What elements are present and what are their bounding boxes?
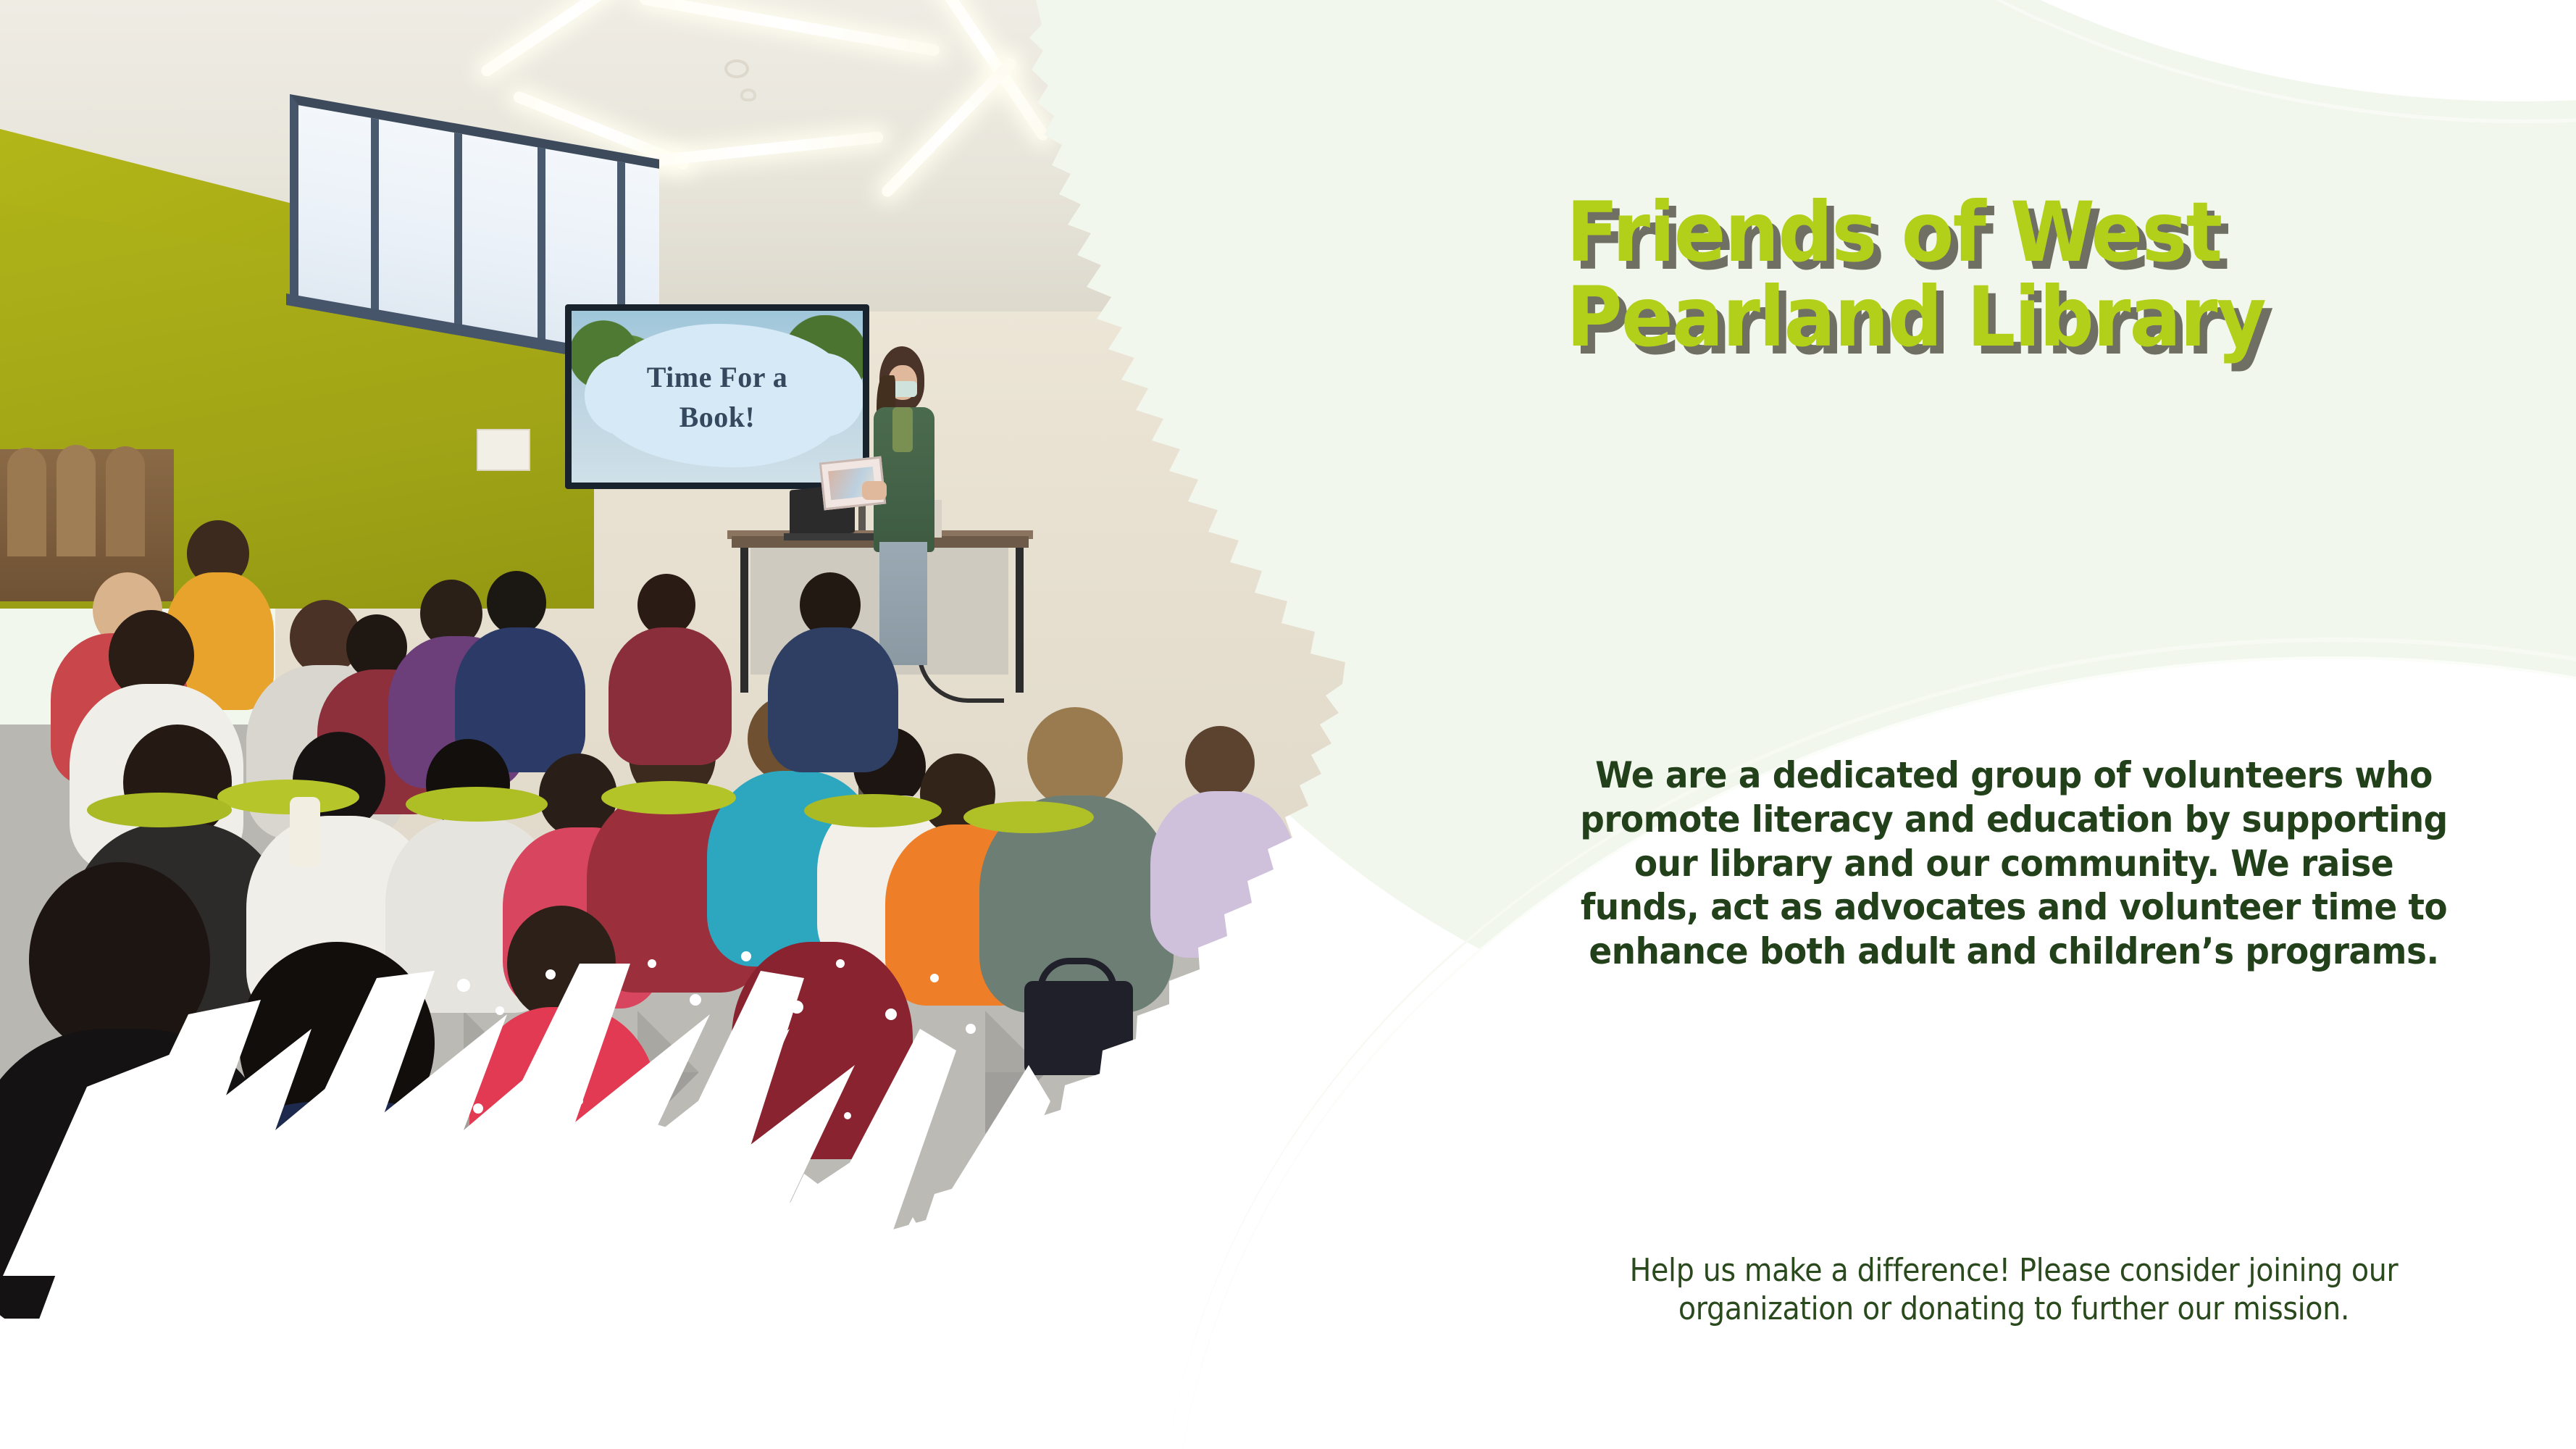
flat-screen-display: Time For a Book! <box>565 304 869 489</box>
light-strip <box>479 0 666 79</box>
photo-torn-frame: Time For a Book! <box>0 0 1434 1319</box>
screen-text-line2: Book! <box>679 400 756 434</box>
backpack <box>1024 981 1133 1075</box>
photo-content: Time For a Book! <box>0 0 1420 1275</box>
mission-statement: We are a dedicated group of volunteers w… <box>1571 753 2456 974</box>
screen-text: Time For a Book! <box>572 311 863 483</box>
light-strip <box>639 0 940 57</box>
ceiling-vent-icon <box>724 59 749 78</box>
wall-poster <box>477 429 530 471</box>
screen-text-line1: Time For a <box>647 360 788 394</box>
light-strip <box>645 131 884 167</box>
ceiling-sprinkler-icon <box>740 88 756 101</box>
library-photo: Time For a Book! <box>0 0 1434 1319</box>
page-title: Friends of West Pearland Library <box>1566 190 2395 360</box>
call-to-action-text: Help us make a difference! Please consid… <box>1590 1252 2438 1329</box>
light-strip <box>879 56 1019 199</box>
light-strip <box>919 0 1050 143</box>
title-line-1: Friends of West <box>1566 190 2395 275</box>
table-leg <box>740 548 748 693</box>
title-line-2: Pearland Library <box>1566 275 2395 359</box>
table-leg <box>1016 548 1024 693</box>
presenter <box>861 346 946 687</box>
slide-canvas: Time For a Book! <box>0 0 2576 1449</box>
water-bottle <box>290 797 320 867</box>
